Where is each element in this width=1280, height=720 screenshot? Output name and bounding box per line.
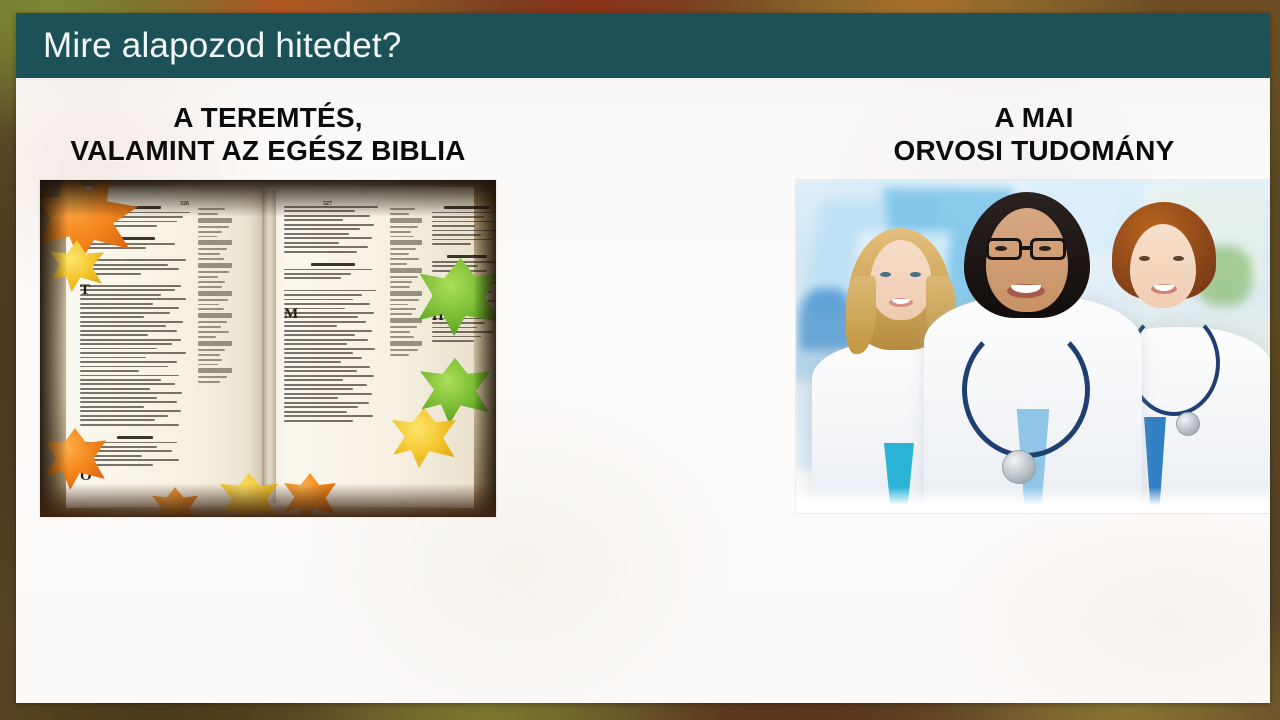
panel-modern-medicine: A MAI ORVOSI TUDOMÁNY bbox=[796, 101, 1270, 513]
panel-right-heading-line1: A MAI bbox=[796, 101, 1270, 134]
panel-right-heading-line2: ORVOSI TUDOMÁNY bbox=[796, 134, 1270, 167]
slide-title: Mire alapozod hitedet? bbox=[16, 26, 402, 66]
panel-left-heading-line2: VALAMINT AZ EGÉSZ BIBLIA bbox=[40, 134, 496, 167]
doctor-2-stethoscope-tubing bbox=[962, 322, 1090, 458]
panel-right-heading: A MAI ORVOSI TUDOMÁNY bbox=[796, 101, 1270, 167]
slide-canvas: Mire alapozod hitedet? A TEREMTÉS, VALAM… bbox=[16, 13, 1270, 703]
doctor-2-stethoscope-chestpiece bbox=[1002, 450, 1036, 484]
doctor-3-face bbox=[1130, 224, 1196, 308]
doctor-2-left-eye bbox=[995, 246, 1007, 251]
photo-bottom-fade bbox=[796, 487, 1270, 513]
slide-backdrop: Mire alapozod hitedet? A TEREMTÉS, VALAM… bbox=[0, 0, 1280, 720]
doctor-2-glasses-bridge bbox=[1022, 246, 1030, 250]
doctor-1-face bbox=[870, 240, 932, 320]
open-bible-photo: T O bbox=[40, 180, 496, 517]
doctor-1-right-eye bbox=[910, 272, 921, 277]
bible-desk-vignette bbox=[40, 180, 496, 517]
medical-team-photo bbox=[796, 180, 1270, 513]
doctor-2-right-eye bbox=[1039, 246, 1051, 251]
panel-left-heading: A TEREMTÉS, VALAMINT AZ EGÉSZ BIBLIA bbox=[40, 101, 496, 167]
doctor-3-right-eye bbox=[1173, 256, 1184, 261]
slide-title-bar: Mire alapozod hitedet? bbox=[16, 13, 1270, 78]
doctor-3-left-eye bbox=[1139, 256, 1150, 261]
doctor-1-left-eye bbox=[880, 272, 891, 277]
doctor-3-stethoscope-chestpiece bbox=[1176, 412, 1200, 436]
panel-creation-bible: A TEREMTÉS, VALAMINT AZ EGÉSZ BIBLIA bbox=[40, 101, 496, 517]
panel-left-heading-line1: A TEREMTÉS, bbox=[40, 101, 496, 134]
